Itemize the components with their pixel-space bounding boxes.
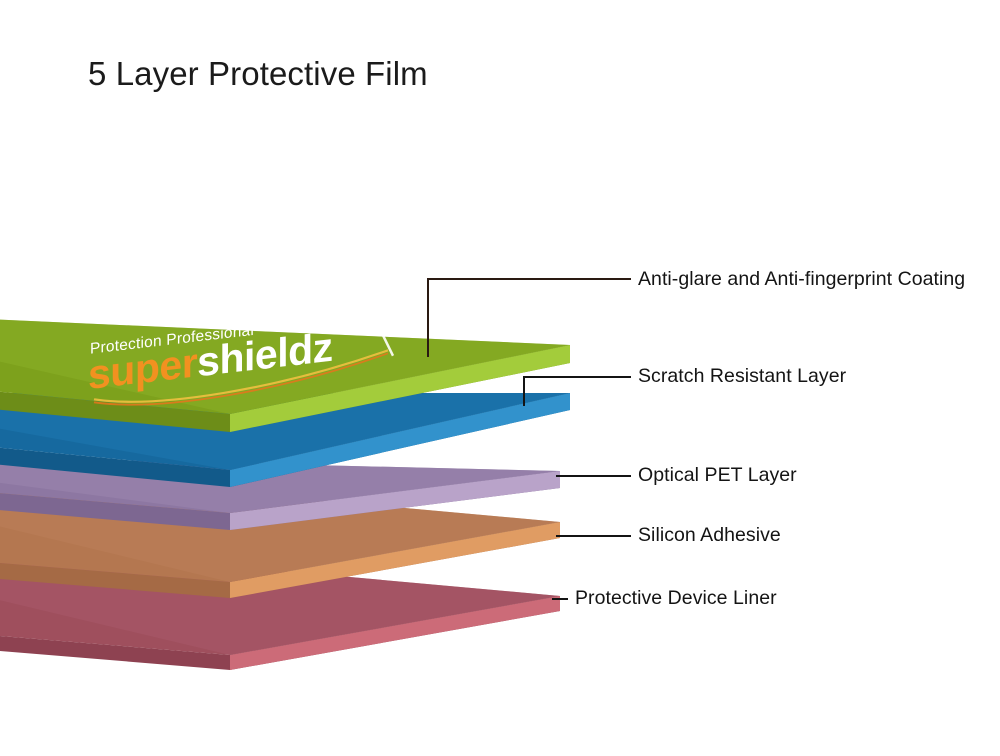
layer-label-anti-glare-coating: Anti-glare and Anti-fingerprint Coating <box>638 270 965 290</box>
diagram-canvas: 5 Layer Protective Film <box>0 0 1000 756</box>
layer-label-scratch-resistant: Scratch Resistant Layer <box>638 367 846 387</box>
layer-label-optical-pet: Optical PET Layer <box>638 466 797 486</box>
layer-label-silicon-adhesive: Silicon Adhesive <box>638 526 781 546</box>
layer-label-protective-device-liner: Protective Device Liner <box>575 589 777 609</box>
